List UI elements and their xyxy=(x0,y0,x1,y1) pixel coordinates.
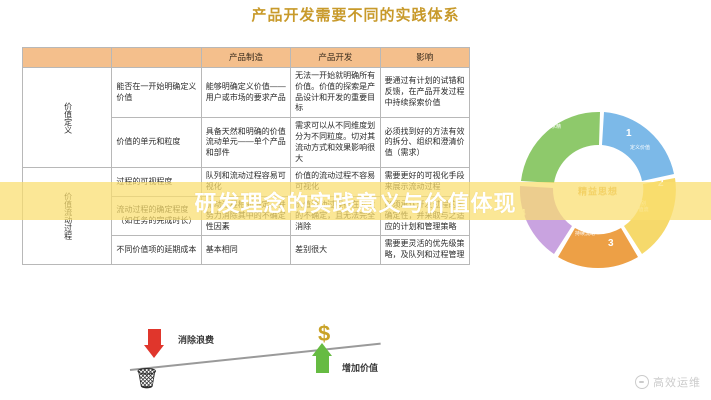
donut-number-5: 5 xyxy=(515,133,521,144)
header-cell-development: 产品开发 xyxy=(291,48,380,68)
up-arrow-icon xyxy=(312,343,332,373)
overlay-banner-text: 研发理念的实践意义与价值体现 xyxy=(0,186,711,218)
trash-can-icon: 🗑 xyxy=(134,369,159,389)
impact-cell: 要通过有计划的试错和反馈，在产品开发过程中持续探索价值 xyxy=(380,68,469,118)
table-row: 价值定义 能否在一开始明确定义价值 能够明确定义价值——用户或市场的要求产品 无… xyxy=(23,68,470,118)
table-header-row: 产品制造 产品开发 影响 xyxy=(23,48,470,68)
donut-label-5: 精益求精 xyxy=(541,124,561,130)
manufacturing-cell: 基本相同 xyxy=(201,236,290,265)
dimension-cell: 能否在一开始明确定义价值 xyxy=(112,68,201,118)
eliminate-waste-label: 消除浪费 xyxy=(178,333,214,346)
impact-cell: 必须找到好的方法有效的拆分、组织和澄清价值（需求） xyxy=(380,118,469,168)
impact-cell: 需要更灵活的优先级策略，及队列和过程管理 xyxy=(380,236,469,265)
header-cell-category xyxy=(23,48,112,68)
comparison-table-wrapper: 产品制造 产品开发 影响 价值定义 能否在一开始明确定义价值 能够明确定义价值—… xyxy=(22,47,470,265)
watermark-label: 高效运维 xyxy=(653,374,701,390)
header-cell-dimension xyxy=(112,48,201,68)
dimension-cell: 不同价值项的延期成本 xyxy=(112,236,201,265)
page-title: 产品开发需要不同的实践体系 xyxy=(0,4,711,25)
comparison-table: 产品制造 产品开发 影响 价值定义 能否在一开始明确定义价值 能够明确定义价值—… xyxy=(22,47,470,265)
header-cell-impact: 影响 xyxy=(380,48,469,68)
development-cell: 差别很大 xyxy=(291,236,380,265)
manufacturing-cell: 能够明确定义价值——用户或市场的要求产品 xyxy=(201,68,290,118)
dimension-cell: 价值的单元和粒度 xyxy=(112,118,201,168)
development-cell: 无法一开始就明确所有价值。价值的探索是产品设计和开发的重要目标 xyxy=(291,68,380,118)
donut-segment-5 xyxy=(521,112,600,183)
add-value-label: 增加价值 xyxy=(342,361,378,374)
donut-label-3: 让价值持续流动 xyxy=(560,225,610,238)
group-label-value-definition: 价值定义 xyxy=(23,68,112,168)
development-cell: 需求可以从不同维度划分为不同粒度。切对其流动方式和效果影响很大 xyxy=(291,118,380,168)
header-cell-manufacturing: 产品制造 xyxy=(201,48,290,68)
donut-label-1: 定义价值 xyxy=(630,145,650,151)
donut-number-1: 1 xyxy=(626,128,632,139)
manufacturing-cell: 具备天然和明确的价值流动单元——单个产品和部件 xyxy=(201,118,290,168)
slide-canvas: 产品开发需要不同的实践体系 产品制造 产品开发 影响 价值定义 能否在一开始明确… xyxy=(0,0,711,400)
donut-number-3: 3 xyxy=(608,238,614,249)
waste-value-seesaw-graphic: 消除浪费 🗑 $ 增加价值 xyxy=(120,325,420,397)
speaker-icon xyxy=(635,375,649,389)
watermark: 高效运维 xyxy=(635,374,701,390)
